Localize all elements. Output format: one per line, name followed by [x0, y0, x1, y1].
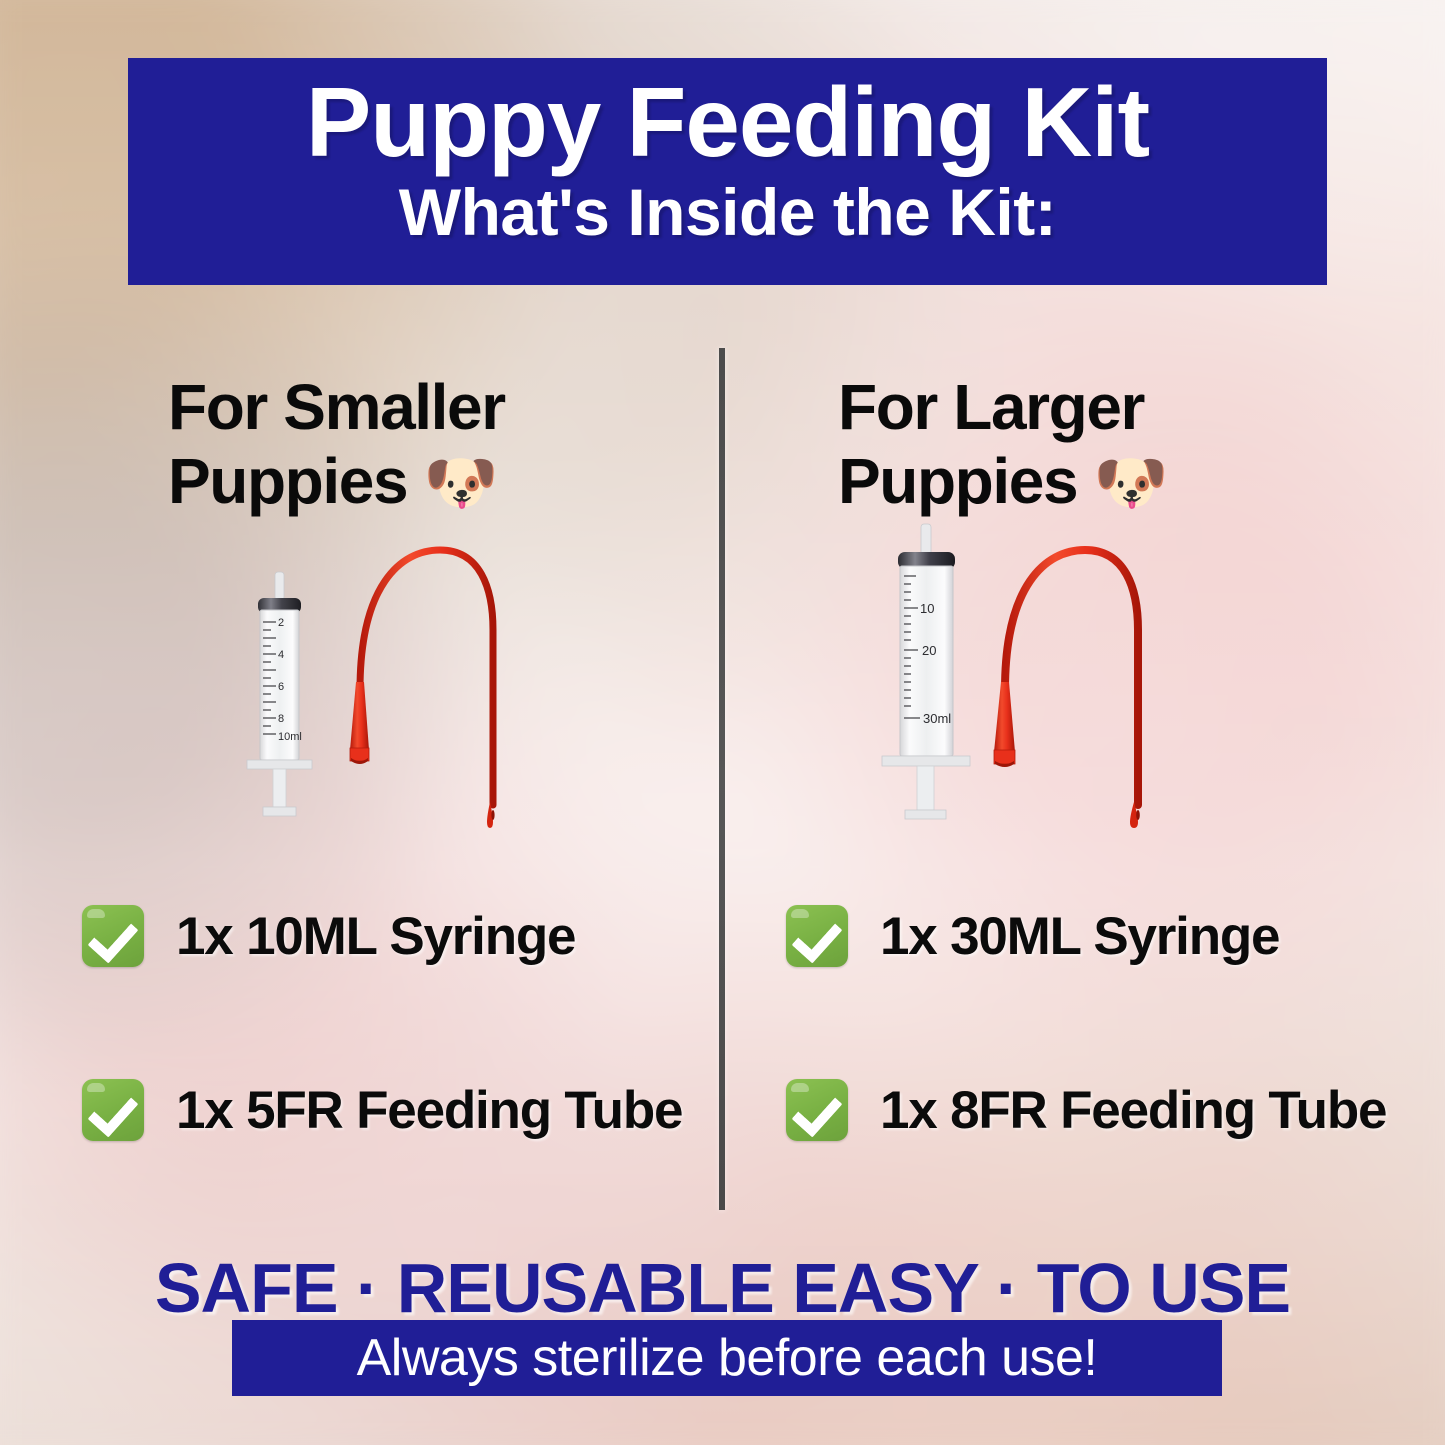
- check-mark-icon: [786, 905, 848, 967]
- column-heading-line1: For Smaller: [168, 371, 505, 443]
- svg-text:4: 4: [278, 649, 284, 661]
- footer-note-text: Always sterilize before each use!: [357, 1328, 1098, 1388]
- list-item: 1x 5FR Feeding Tube: [82, 1064, 722, 1156]
- checklist-larger: 1x 30ML Syringe 1x 8FR Feeding Tube: [786, 890, 1426, 1238]
- svg-text:8: 8: [278, 713, 284, 725]
- svg-text:10: 10: [920, 601, 934, 616]
- svg-text:6: 6: [278, 681, 284, 693]
- header-banner: Puppy Feeding Kit What's Inside the Kit:: [128, 58, 1327, 285]
- page-subtitle: What's Inside the Kit:: [399, 178, 1056, 247]
- column-heading-larger: For Larger Puppies 🐶: [760, 370, 1400, 540]
- column-smaller-puppies: For Smaller Puppies 🐶: [60, 370, 700, 1210]
- check-mark-icon: [82, 905, 144, 967]
- list-item-label: 1x 8FR Feeding Tube: [880, 1080, 1386, 1141]
- feeding-tube-5fr-image: [330, 530, 520, 830]
- syringe-10ml-image: 2 4 6 8 10ml: [245, 570, 315, 820]
- column-heading-line2: Puppies: [838, 445, 1077, 517]
- svg-text:2: 2: [278, 617, 284, 629]
- dog-face-icon: 🐶: [1094, 449, 1169, 516]
- dog-face-icon: 🐶: [424, 449, 499, 516]
- checklist-smaller: 1x 10ML Syringe 1x 5FR Feeding Tube: [82, 890, 722, 1238]
- list-item: 1x 10ML Syringe: [82, 890, 722, 982]
- page-title: Puppy Feeding Kit: [306, 72, 1149, 174]
- check-mark-icon: [786, 1079, 848, 1141]
- list-item-label: 1x 5FR Feeding Tube: [176, 1080, 682, 1141]
- check-mark-icon: [82, 1079, 144, 1141]
- list-item: 1x 8FR Feeding Tube: [786, 1064, 1426, 1156]
- footer-note-box: Always sterilize before each use!: [232, 1320, 1222, 1396]
- product-stage-smaller: 2 4 6 8 10ml: [60, 558, 700, 858]
- list-item: 1x 30ML Syringe: [786, 890, 1426, 982]
- column-heading-smaller: For Smaller Puppies 🐶: [60, 370, 700, 540]
- syringe-30ml-image: 10 20 30ml: [880, 522, 972, 822]
- svg-text:30ml: 30ml: [923, 711, 951, 726]
- svg-text:20: 20: [922, 643, 936, 658]
- column-heading-line2: Puppies: [168, 445, 407, 517]
- list-item-label: 1x 10ML Syringe: [176, 906, 575, 967]
- feeding-tube-8fr-image: [975, 530, 1165, 830]
- product-stage-larger: 10 20 30ml: [760, 558, 1400, 858]
- list-item-label: 1x 30ML Syringe: [880, 906, 1279, 967]
- column-larger-puppies: For Larger Puppies 🐶: [760, 370, 1400, 1210]
- svg-text:10ml: 10ml: [278, 731, 302, 743]
- column-heading-line1: For Larger: [838, 371, 1144, 443]
- footer-tagline: SAFE · REUSABLE EASY · TO USE: [0, 1248, 1445, 1328]
- infographic-canvas: Puppy Feeding Kit What's Inside the Kit:…: [0, 0, 1445, 1445]
